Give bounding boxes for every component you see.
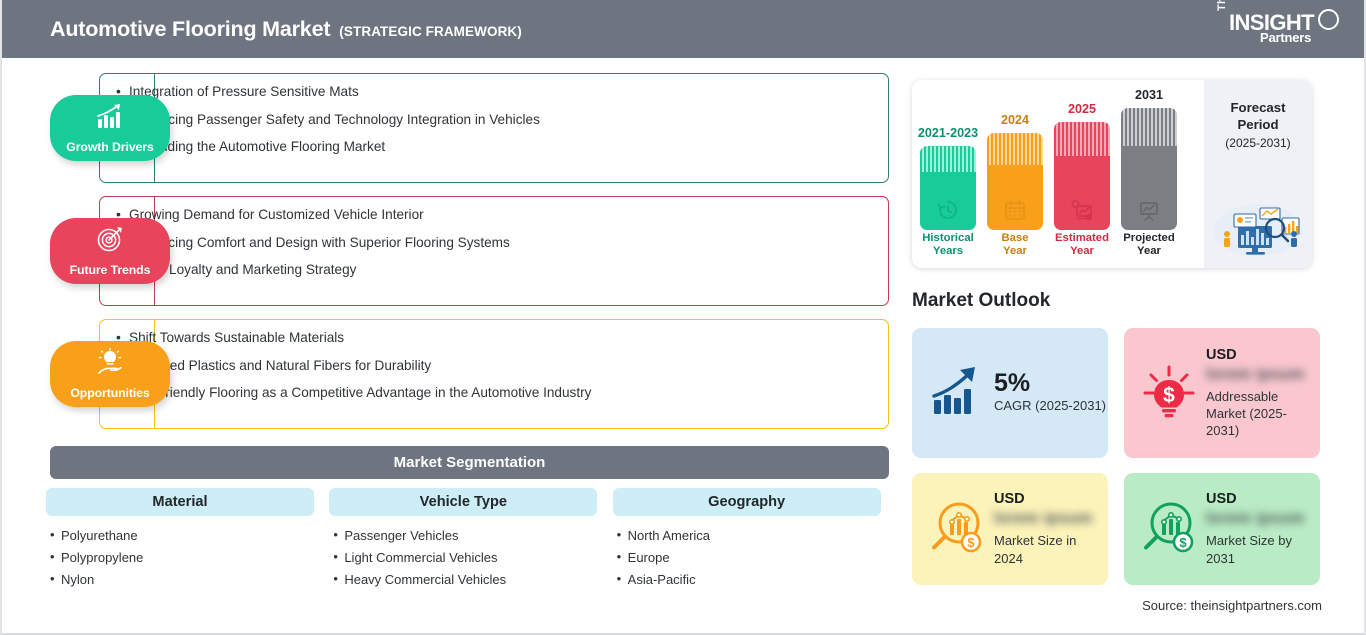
list-item: Recycled Plastics and Natural Fibers for… (116, 359, 888, 373)
list-item: Enhancing Passenger Safety and Technolog… (116, 113, 888, 127)
logo-ring-icon (1318, 9, 1339, 30)
outlook-card-market-size-2024: $ USD lorem ipsum Market Size in 2024 (912, 473, 1108, 585)
list-item: Enhancing Comfort and Design with Superi… (116, 236, 888, 250)
forecast-period-label: ForecastPeriod (1231, 100, 1286, 133)
bullet-list: Growing Demand for Customized Vehicle In… (116, 208, 888, 277)
header-title-group: Automotive Flooring Market (STRATEGIC FR… (50, 17, 522, 42)
cagr-value: 5% (994, 370, 1106, 396)
magnifier-chart-dollar-icon: $ (926, 498, 988, 560)
target-dart-icon (95, 225, 125, 253)
list-item: Shift Towards Sustainable Materials (116, 331, 888, 345)
outlook-card-cagr: 5% CAGR (2025-2031) (912, 328, 1108, 458)
calendar-icon (1002, 198, 1028, 222)
timeline-bar-estimated: 2025 E (1054, 80, 1110, 268)
card-text: USD lorem ipsum Addressable Market (2025… (1206, 347, 1320, 439)
segmentation-list: Polyurethane Polypropylene Nylon (50, 529, 329, 586)
bar-year-label: 2021-2023 (918, 126, 978, 140)
bar-stripe-top (987, 133, 1043, 165)
segmentation-column-vehicle-type: Vehicle Type Passenger Vehicles Light Co… (329, 488, 612, 595)
market-segmentation-title: Market Segmentation (50, 446, 889, 479)
framework-column: Integration of Pressure Sensitive Mats E… (2, 58, 902, 635)
framework-panel-opportunities: Shift Towards Sustainable Materials Recy… (99, 319, 889, 429)
timeline-bar-historical: 2021-2023 HistoricalYears (920, 80, 976, 268)
badge-label: Opportunities (70, 386, 149, 400)
list-item: Heavy Commercial Vehicles (333, 573, 612, 586)
list-item: Expanding the Automotive Flooring Market (116, 140, 888, 154)
chart-monitor-icon (1069, 198, 1095, 222)
currency-label: USD (1206, 347, 1320, 363)
logo-partners-text: Partners (1260, 30, 1311, 45)
list-item: Europe (617, 551, 896, 564)
list-item: Nylon (50, 573, 329, 586)
bar-caption: HistoricalYears (922, 232, 973, 258)
timeline-bar-projected: 2031 ProjectedYear (1121, 80, 1177, 268)
blurred-value: lorem ipsum (1206, 510, 1320, 528)
bar-year-label: 2024 (1001, 113, 1029, 127)
badge-growth-drivers[interactable]: Growth Drivers (50, 95, 170, 161)
forecast-period-range: (2025-2031) (1225, 136, 1290, 150)
bar-caption: ProjectedYear (1123, 232, 1174, 258)
bullet-list: Shift Towards Sustainable Materials Recy… (116, 331, 888, 400)
segmentation-header: Material (46, 488, 314, 516)
bar-caption: EstimatedYear (1055, 232, 1109, 258)
bar-year-label: 2025 (1068, 102, 1096, 116)
list-item: North America (617, 529, 896, 542)
logo-the-text: The (1216, 0, 1228, 11)
bar-chart-arrow-icon (926, 362, 988, 424)
list-item: Polypropylene (50, 551, 329, 564)
card-label: Market Size in 2024 (994, 532, 1108, 566)
badge-opportunities[interactable]: Opportunities (50, 341, 170, 407)
currency-label: USD (994, 491, 1108, 507)
market-outlook-title: Market Outlook (912, 290, 1050, 312)
insight-partners-logo[interactable]: The INSIGHT Partners (1216, 9, 1340, 51)
badge-label: Growth Drivers (66, 140, 153, 154)
list-item: Integration of Pressure Sensitive Mats (116, 85, 888, 99)
segmentation-header: Geography (613, 488, 881, 516)
bar-caption: BaseYear (1001, 232, 1028, 258)
timeline-bar-base: 2024 BaseYear (987, 80, 1043, 268)
blurred-value: lorem ipsum (994, 510, 1108, 528)
svg-text:$: $ (967, 535, 975, 550)
badge-future-trends[interactable]: Future Trends (50, 218, 170, 284)
presentation-chart-icon (1136, 198, 1162, 222)
blurred-value: lorem ipsum (1206, 366, 1320, 384)
bar-stripe-top (920, 146, 976, 172)
forecast-period-panel: ForecastPeriod (2025-2031) (1204, 80, 1312, 268)
framework-panel-future-trends: Growing Demand for Customized Vehicle In… (99, 196, 889, 306)
segmentation-list: Passenger Vehicles Light Commercial Vehi… (333, 529, 612, 586)
bar-stripe-top (1054, 122, 1110, 156)
segmentation-columns: Material Polyurethane Polypropylene Nylo… (46, 488, 896, 595)
list-item: Brand Loyalty and Marketing Strategy (116, 263, 888, 277)
segmentation-column-geography: Geography North America Europe Asia-Paci… (613, 488, 896, 595)
lightbulb-hand-icon (95, 348, 125, 376)
svg-text:$: $ (1163, 384, 1175, 407)
outlook-column: 2021-2023 HistoricalYears (907, 58, 1366, 635)
list-item: Polyurethane (50, 529, 329, 542)
analytics-dashboard-illustration (1210, 196, 1306, 258)
card-label: Addressable Market (2025-2031) (1206, 388, 1320, 439)
page-subtitle: (STRATEGIC FRAMEWORK) (339, 24, 522, 39)
bar-year-label: 2031 (1135, 88, 1163, 102)
bullet-list: Integration of Pressure Sensitive Mats E… (116, 85, 888, 154)
source-attribution: Source: theinsightpartners.com (1142, 598, 1322, 613)
segmentation-list: North America Europe Asia-Pacific (617, 529, 896, 586)
forecast-timeline-card: 2021-2023 HistoricalYears (912, 80, 1312, 268)
list-item: Light Commercial Vehicles (333, 551, 612, 564)
cagr-label: CAGR (2025-2031) (994, 397, 1106, 416)
framework-panel-growth-drivers: Integration of Pressure Sensitive Mats E… (99, 73, 889, 183)
list-item: Passenger Vehicles (333, 529, 612, 542)
currency-label: USD (1206, 491, 1320, 507)
card-label: Market Size by 2031 (1206, 532, 1320, 566)
list-item: Asia-Pacific (617, 573, 896, 586)
list-item: Eco-Friendly Flooring as a Competitive A… (116, 386, 888, 400)
bar-chart-growth-icon (95, 102, 125, 130)
lightbulb-dollar-icon: $ (1138, 362, 1200, 424)
page-title: Automotive Flooring Market (50, 17, 330, 42)
badge-label: Future Trends (70, 263, 151, 277)
card-text: USD lorem ipsum Market Size in 2024 (994, 491, 1108, 566)
segmentation-header: Vehicle Type (329, 488, 597, 516)
svg-text:$: $ (1179, 535, 1187, 550)
infographic-page: Automotive Flooring Market (STRATEGIC FR… (0, 0, 1366, 635)
outlook-card-market-size-2031: $ USD lorem ipsum Market Size by 2031 (1124, 473, 1320, 585)
bar-stripe-top (1121, 108, 1177, 146)
segmentation-column-material: Material Polyurethane Polypropylene Nylo… (46, 488, 329, 595)
card-text: 5% CAGR (2025-2031) (994, 370, 1106, 415)
list-item: Growing Demand for Customized Vehicle In… (116, 208, 888, 222)
timeline-bars: 2021-2023 HistoricalYears (920, 80, 1186, 268)
page-header: Automotive Flooring Market (STRATEGIC FR… (2, 0, 1364, 58)
magnifier-chart-dollar-icon: $ (1138, 498, 1200, 560)
outlook-card-addressable-market: $ USD lorem ipsum Addressable Market (20… (1124, 328, 1320, 458)
card-text: USD lorem ipsum Market Size by 2031 (1206, 491, 1320, 566)
clock-history-icon (935, 198, 961, 222)
